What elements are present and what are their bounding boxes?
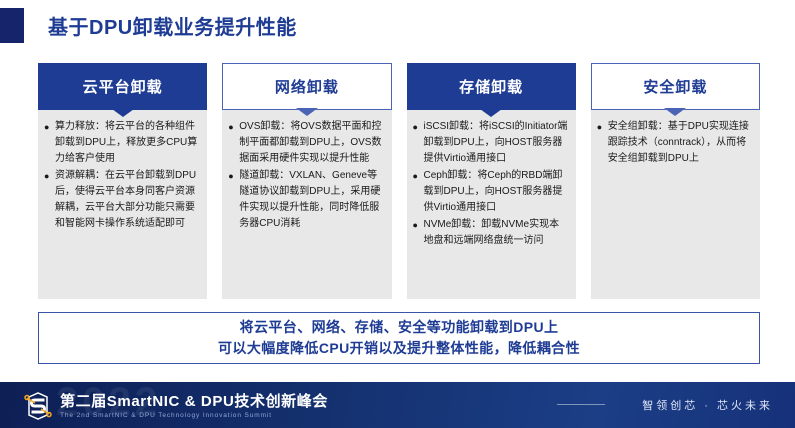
header-notch-icon xyxy=(296,108,318,116)
column-header-network[interactable]: 网络卸载 xyxy=(222,63,391,110)
column-network: 网络卸载 ● OVS卸载：将OVS数据平面和控制平面都卸载到DPU上，OVS数据… xyxy=(222,63,391,299)
bullet-list: ● OVS卸载：将OVS数据平面和控制平面都卸载到DPU上，OVS数据面采用硬件… xyxy=(228,119,383,232)
bullet-dot-icon: ● xyxy=(228,168,239,232)
bullet-text: OVS卸载：将OVS数据平面和控制平面都卸载到DPU上，OVS数据面采用硬件实现… xyxy=(239,119,383,167)
title-accent-bar xyxy=(0,8,24,43)
list-item: ● NVMe卸载：卸载NVMe实现本地盘和远端网络盘统一访问 xyxy=(413,217,568,249)
column-body-storage: ● iSCSI卸载：将iSCSI的Initiator端卸载到DPU上，向HOST… xyxy=(407,110,576,299)
list-item: ● 隧道卸载：VXLAN、Geneve等隧道协议卸载到DPU上，采用硬件实现以提… xyxy=(228,168,383,232)
footer-bar: 2022 第二届SmartNIC & DPU技术创新峰会 The 2nd Sma… xyxy=(0,382,795,428)
header-notch-icon xyxy=(112,109,134,117)
bullet-list: ● 算力释放：将云平台的各种组件卸载到DPU上，释放更多CPU算力给客户使用 ●… xyxy=(44,119,199,232)
list-item: ● 安全组卸载：基于DPU实现连接跟踪技术（conntrack），从而将安全组卸… xyxy=(597,119,752,167)
column-header-label: 安全卸载 xyxy=(643,76,707,97)
column-header-label: 云平台卸载 xyxy=(83,76,163,97)
bullet-text: 隧道卸载：VXLAN、Geneve等隧道协议卸载到DPU上，采用硬件实现以提升性… xyxy=(239,168,383,232)
summary-box: 将云平台、网络、存储、安全等功能卸载到DPU上 可以大幅度降低CPU开销以及提升… xyxy=(38,312,760,364)
page-title: 基于DPU卸载业务提升性能 xyxy=(48,11,297,40)
footer-tagline: 智领创芯 · 芯火未来 xyxy=(642,397,773,413)
bullet-dot-icon: ● xyxy=(413,168,424,216)
list-item: ● Ceph卸载：将Ceph的RBD端卸载到DPU上，向HOST服务器提供Vir… xyxy=(413,168,568,216)
list-item: ● 算力释放：将云平台的各种组件卸载到DPU上，释放更多CPU算力给客户使用 xyxy=(44,119,199,167)
column-cloud-platform: 云平台卸载 ● 算力释放：将云平台的各种组件卸载到DPU上，释放更多CPU算力给… xyxy=(38,63,207,299)
column-security: 安全卸载 ● 安全组卸载：基于DPU实现连接跟踪技术（conntrack），从而… xyxy=(591,63,760,299)
column-header-security[interactable]: 安全卸载 xyxy=(591,63,760,110)
bullet-text: 安全组卸载：基于DPU实现连接跟踪技术（conntrack），从而将安全组卸载到… xyxy=(608,119,752,167)
bullet-dot-icon: ● xyxy=(44,168,55,232)
list-item: ● iSCSI卸载：将iSCSI的Initiator端卸载到DPU上，向HOST… xyxy=(413,119,568,167)
column-header-storage[interactable]: 存储卸载 xyxy=(407,63,576,110)
column-body-cloud-platform: ● 算力释放：将云平台的各种组件卸载到DPU上，释放更多CPU算力给客户使用 ●… xyxy=(38,110,207,299)
bullet-list: ● 安全组卸载：基于DPU实现连接跟踪技术（conntrack），从而将安全组卸… xyxy=(597,119,752,167)
footer-brand: 第二届SmartNIC & DPU技术创新峰会 The 2nd SmartNIC… xyxy=(60,390,328,419)
column-body-network: ● OVS卸载：将OVS数据平面和控制平面都卸载到DPU上，OVS数据面采用硬件… xyxy=(222,110,391,299)
list-item: ● OVS卸载：将OVS数据平面和控制平面都卸载到DPU上，OVS数据面采用硬件… xyxy=(228,119,383,167)
header-notch-icon xyxy=(480,109,502,117)
bullet-dot-icon: ● xyxy=(413,119,424,167)
footer-divider xyxy=(557,404,605,405)
bullet-text: 算力释放：将云平台的各种组件卸载到DPU上，释放更多CPU算力给客户使用 xyxy=(55,119,199,167)
bullet-dot-icon: ● xyxy=(413,217,424,249)
bullet-dot-icon: ● xyxy=(228,119,239,167)
column-storage: 存储卸载 ● iSCSI卸载：将iSCSI的Initiator端卸载到DPU上，… xyxy=(407,63,576,299)
summary-line-2: 可以大幅度降低CPU开销以及提升整体性能，降低耦合性 xyxy=(218,338,580,359)
bullet-dot-icon: ● xyxy=(44,119,55,167)
column-header-label: 存储卸载 xyxy=(459,76,523,97)
header-notch-icon xyxy=(664,108,686,116)
summary-line-1: 将云平台、网络、存储、安全等功能卸载到DPU上 xyxy=(240,317,559,338)
bullet-text: 资源解耦：在云平台卸载到DPU后，使得云平台本身同客户资源解耦，云平台大部分功能… xyxy=(55,168,199,232)
column-body-security: ● 安全组卸载：基于DPU实现连接跟踪技术（conntrack），从而将安全组卸… xyxy=(591,110,760,299)
offload-columns: 云平台卸载 ● 算力释放：将云平台的各种组件卸载到DPU上，释放更多CPU算力给… xyxy=(38,63,760,299)
bullet-text: NVMe卸载：卸载NVMe实现本地盘和远端网络盘统一访问 xyxy=(424,217,568,249)
bullet-list: ● iSCSI卸载：将iSCSI的Initiator端卸载到DPU上，向HOST… xyxy=(413,119,568,249)
footer-brand-cn: 第二届SmartNIC & DPU技术创新峰会 xyxy=(60,390,328,411)
list-item: ● 资源解耦：在云平台卸载到DPU后，使得云平台本身同客户资源解耦，云平台大部分… xyxy=(44,168,199,232)
column-header-label: 网络卸载 xyxy=(275,76,339,97)
footer-brand-en: The 2nd SmartNIC & DPU Technology Innova… xyxy=(60,412,328,419)
bullet-dot-icon: ● xyxy=(597,119,608,167)
bullet-text: Ceph卸载：将Ceph的RBD端卸载到DPU上，向HOST服务器提供Virti… xyxy=(424,168,568,216)
summit-logo-icon xyxy=(22,391,54,421)
column-header-cloud-platform[interactable]: 云平台卸载 xyxy=(38,63,207,110)
bullet-text: iSCSI卸载：将iSCSI的Initiator端卸载到DPU上，向HOST服务… xyxy=(424,119,568,167)
